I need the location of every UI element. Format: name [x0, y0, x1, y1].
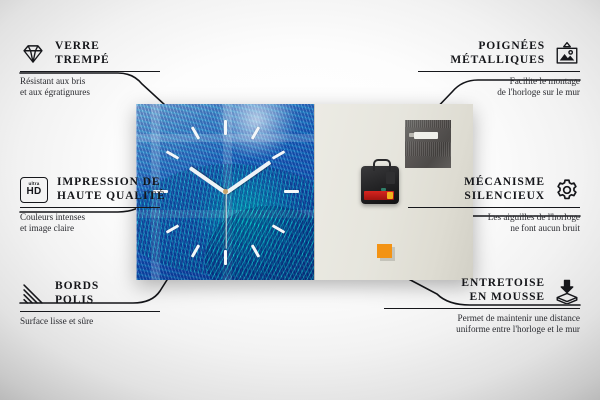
feature-desc-line1: Couleurs intenses [20, 212, 160, 223]
feature-title-line2: MÉTALLIQUES [450, 54, 545, 68]
feature-impression-haute-qualite: ultra HD IMPRESSION DE HAUTE QUALITÉ Cou… [20, 176, 160, 234]
foam-spacer [377, 244, 392, 258]
second-hand [225, 193, 226, 249]
metal-hanger-plate [405, 120, 451, 168]
feature-title-line1: VERRE [55, 40, 110, 54]
feature-title-line2: SILENCIEUX [464, 190, 545, 204]
feature-desc-line2: de l'horloge sur le mur [418, 87, 580, 98]
feature-desc-line1: Surface lisse et sûre [20, 316, 160, 327]
infographic-canvas: VERRE TREMPÉ Résistant aux bris et aux é… [0, 0, 600, 400]
feature-title-line2: EN MOUSSE [461, 291, 545, 305]
feature-rule [408, 207, 580, 208]
feature-desc-line2: uniforme entre l'horloge et le mur [384, 324, 580, 335]
feature-desc-line1: Facilite le montage [418, 76, 580, 87]
clock-mechanism [361, 166, 399, 204]
feature-title-line1: BORDS [55, 280, 99, 294]
clock-tick [224, 120, 227, 135]
feature-desc-line2: ne font aucun bruit [408, 223, 580, 234]
hanger-slot [414, 132, 438, 139]
mechanism-chip [386, 172, 395, 184]
feature-title-line2: POLIS [55, 294, 99, 308]
feature-entretoise-en-mousse: ENTRETOISE EN MOUSSE Permet de maintenir… [384, 277, 580, 335]
battery [364, 191, 394, 200]
battery-terminal [387, 192, 393, 199]
gear-icon [554, 177, 580, 203]
arrow-onto-pad-icon [554, 278, 580, 304]
clock-tick [166, 150, 180, 160]
feature-desc-line1: Résistant aux bris [20, 76, 160, 87]
feature-title-line1: IMPRESSION DE [57, 176, 166, 190]
feature-poignees-metalliques: POIGNÉES MÉTALLIQUES Facilite le montage… [418, 40, 580, 98]
feature-title-line1: ENTRETOISE [461, 277, 545, 291]
feature-desc-line1: Les aiguilles de l'horloge [408, 212, 580, 223]
feature-desc-line2: et aux égratignures [20, 87, 160, 98]
feature-title-line2: TREMPÉ [55, 54, 110, 68]
clock-tick [284, 190, 299, 193]
feature-mecanisme-silencieux: MÉCANISME SILENCIEUX Les aiguilles de l'… [408, 176, 580, 234]
diagonal-lines-icon [20, 281, 46, 307]
feature-rule [20, 207, 160, 208]
ultra-hd-badge-icon: ultra HD [20, 177, 48, 203]
mechanism-hook [373, 159, 391, 171]
hd-badge-main-text: HD [26, 187, 41, 197]
feature-bords-polis: BORDS POLIS Surface lisse et sûre [20, 280, 160, 327]
clock-tick [224, 250, 227, 265]
feature-verre-trempe: VERRE TREMPÉ Résistant aux bris et aux é… [20, 40, 160, 98]
feature-desc-line1: Permet de maintenir une distance [384, 313, 580, 324]
feature-title-line1: MÉCANISME [464, 176, 545, 190]
feature-rule [20, 71, 160, 72]
diamond-icon [20, 41, 46, 67]
face-band [137, 134, 315, 142]
feature-desc-line2: et image claire [20, 223, 160, 234]
feature-title-line1: POIGNÉES [450, 40, 545, 54]
feature-title-line2: HAUTE QUALITÉ [57, 190, 166, 204]
feature-rule [20, 311, 160, 312]
feature-rule [418, 71, 580, 72]
clock-hub [223, 189, 228, 194]
feature-rule [384, 308, 580, 309]
framed-picture-icon [554, 41, 580, 67]
